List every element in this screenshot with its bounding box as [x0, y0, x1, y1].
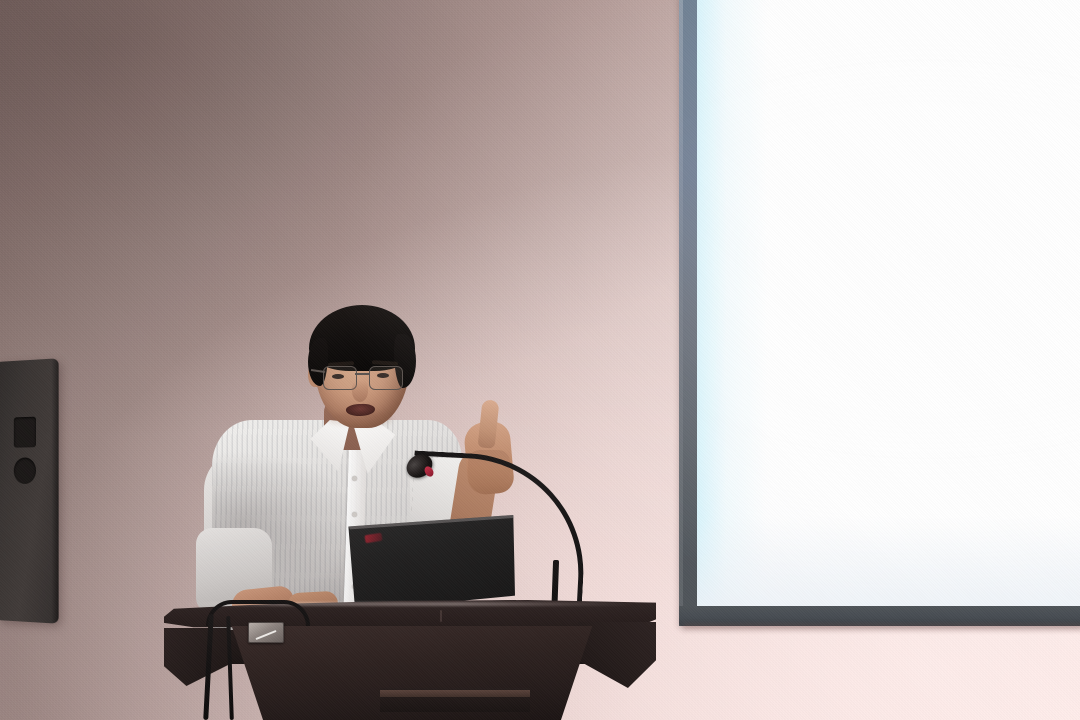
speaker-driver-upper: [14, 417, 36, 448]
speaker-side-edge: [51, 358, 58, 623]
glasses-lens-right: [369, 366, 403, 390]
podium-base-strip: [380, 690, 530, 697]
projection-screen-shadow: [683, 624, 1080, 633]
projection-screen-frame-highlight: [679, 0, 683, 606]
projection-screen: [679, 0, 1080, 626]
nose: [352, 380, 368, 402]
cable-loop: [206, 600, 310, 626]
shirt-button: [352, 512, 357, 517]
photo-canvas: [0, 0, 1080, 720]
speaker-driver-lower: [14, 457, 36, 484]
projection-screen-bottom-glow: [697, 516, 1080, 606]
shirt-button: [352, 476, 357, 481]
wall-speaker: [0, 358, 59, 623]
projection-screen-bottom-bar: [679, 606, 1080, 626]
glasses-bridge: [355, 373, 369, 375]
podium-left-wing: [164, 628, 230, 686]
podium-seam: [440, 610, 442, 622]
